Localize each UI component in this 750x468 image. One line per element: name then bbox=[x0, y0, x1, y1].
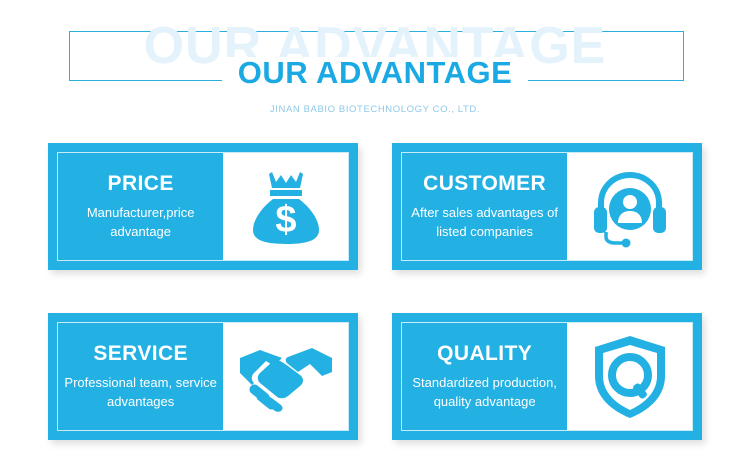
card-description: Manufacturer,price advantage bbox=[64, 204, 217, 242]
headset-support-icon bbox=[588, 165, 672, 249]
card-description: Standardized production, quality advanta… bbox=[408, 374, 561, 412]
card-text-block: SERVICE Professional team, service advan… bbox=[58, 323, 223, 430]
card-inner-border: CUSTOMER After sales advantages of liste… bbox=[401, 152, 693, 261]
money-bag-icon: $ bbox=[250, 168, 322, 246]
card-icon-panel: $ bbox=[223, 153, 348, 260]
card-title: SERVICE bbox=[93, 342, 188, 365]
shield-q-icon bbox=[592, 334, 668, 420]
card-description: Professional team, service advantages bbox=[64, 374, 217, 412]
svg-text:$: $ bbox=[275, 199, 296, 241]
page-title: OUR ADVANTAGE bbox=[222, 57, 529, 88]
advantage-card-service[interactable]: SERVICE Professional team, service advan… bbox=[48, 313, 358, 440]
advantage-card-customer[interactable]: CUSTOMER After sales advantages of liste… bbox=[392, 143, 702, 270]
handshake-icon bbox=[238, 342, 334, 412]
page-title-wrap: OUR ADVANTAGE bbox=[0, 57, 750, 88]
advantage-card-quality[interactable]: QUALITY Standardized production, quality… bbox=[392, 313, 702, 440]
card-inner-border: PRICE Manufacturer,price advantage $ bbox=[57, 152, 349, 261]
advantage-card-price[interactable]: PRICE Manufacturer,price advantage $ bbox=[48, 143, 358, 270]
card-inner-border: SERVICE Professional team, service advan… bbox=[57, 322, 349, 431]
card-icon-panel bbox=[567, 153, 692, 260]
card-title: CUSTOMER bbox=[423, 172, 546, 195]
card-title: PRICE bbox=[108, 172, 174, 195]
page-header: OUR ADVANTAGE OUR ADVANTAGE JINAN BABIO … bbox=[0, 0, 750, 130]
advantage-card-grid: PRICE Manufacturer,price advantage $ CUS… bbox=[48, 143, 702, 440]
card-icon-panel bbox=[567, 323, 692, 430]
card-inner-border: QUALITY Standardized production, quality… bbox=[401, 322, 693, 431]
card-text-block: CUSTOMER After sales advantages of liste… bbox=[402, 153, 567, 260]
company-subtitle: JINAN BABIO BIOTECHNOLOGY CO., LTD. bbox=[0, 104, 750, 115]
card-text-block: PRICE Manufacturer,price advantage bbox=[58, 153, 223, 260]
card-description: After sales advantages of listed compani… bbox=[408, 204, 561, 242]
card-icon-panel bbox=[223, 323, 348, 430]
card-title: QUALITY bbox=[437, 342, 532, 365]
card-text-block: QUALITY Standardized production, quality… bbox=[402, 323, 567, 430]
